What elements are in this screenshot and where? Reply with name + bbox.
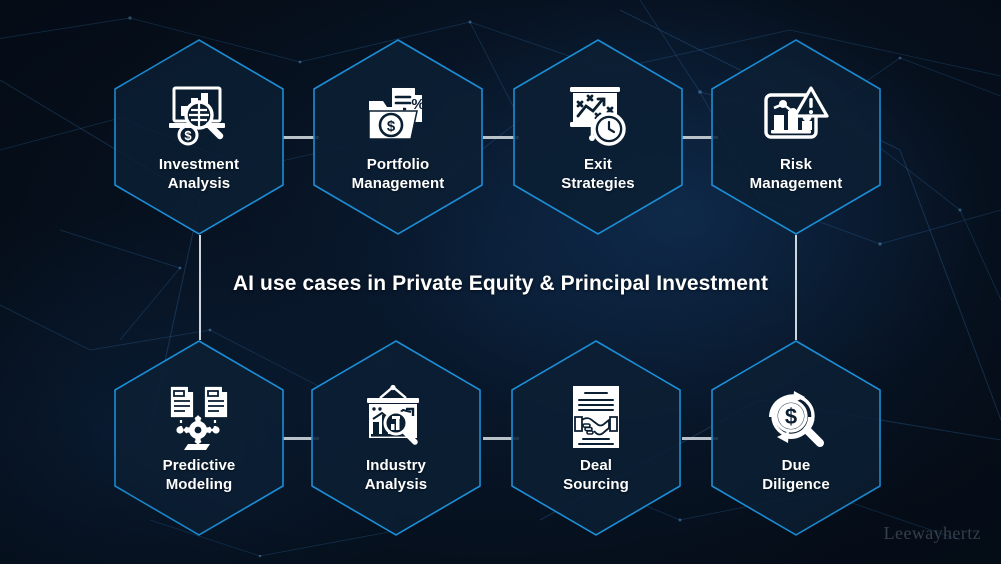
handshake-document-icon bbox=[557, 382, 635, 452]
folder-percent-dollar-icon: % $ bbox=[359, 81, 437, 151]
center-title: AI use cases in Private Equity & Princip… bbox=[0, 272, 1001, 296]
presentation-clock-icon bbox=[559, 81, 637, 151]
hex-label: Portfolio Management bbox=[352, 155, 445, 193]
hex-label: Due Diligence bbox=[762, 456, 830, 494]
hex-node-risk-management[interactable]: Risk Management bbox=[710, 38, 882, 236]
hex-node-portfolio-management[interactable]: % $ Portfolio Management bbox=[312, 38, 484, 236]
chart-magnifier-dollar-icon: $ bbox=[160, 81, 238, 151]
hex-label: Risk Management bbox=[750, 155, 843, 193]
infographic-canvas: $ Investment Analysis bbox=[0, 0, 1001, 564]
svg-text:$: $ bbox=[785, 404, 797, 429]
dollar-refresh-magnifier-icon: $ bbox=[757, 382, 835, 452]
hex-label: Exit Strategies bbox=[561, 155, 635, 193]
hex-node-exit-strategies[interactable]: Exit Strategies bbox=[512, 38, 684, 236]
board-chart-magnifier-icon bbox=[357, 382, 435, 452]
svg-text:$: $ bbox=[387, 118, 396, 135]
svg-text:$: $ bbox=[184, 128, 192, 143]
bar-chart-warning-icon bbox=[757, 81, 835, 151]
watermark-logo: Leewayhertz bbox=[884, 523, 981, 544]
documents-gear-icon bbox=[160, 382, 238, 452]
hex-label: Industry Analysis bbox=[365, 456, 428, 494]
hex-label: Deal Sourcing bbox=[563, 456, 629, 494]
hex-node-industry-analysis[interactable]: Industry Analysis bbox=[310, 339, 482, 537]
hex-label: Investment Analysis bbox=[159, 155, 239, 193]
hex-node-deal-sourcing[interactable]: Deal Sourcing bbox=[510, 339, 682, 537]
hex-node-investment-analysis[interactable]: $ Investment Analysis bbox=[113, 38, 285, 236]
hex-node-predictive-modeling[interactable]: Predictive Modeling bbox=[113, 339, 285, 537]
hex-label: Predictive Modeling bbox=[163, 456, 236, 494]
hex-node-due-diligence[interactable]: $ Due Diligence bbox=[710, 339, 882, 537]
